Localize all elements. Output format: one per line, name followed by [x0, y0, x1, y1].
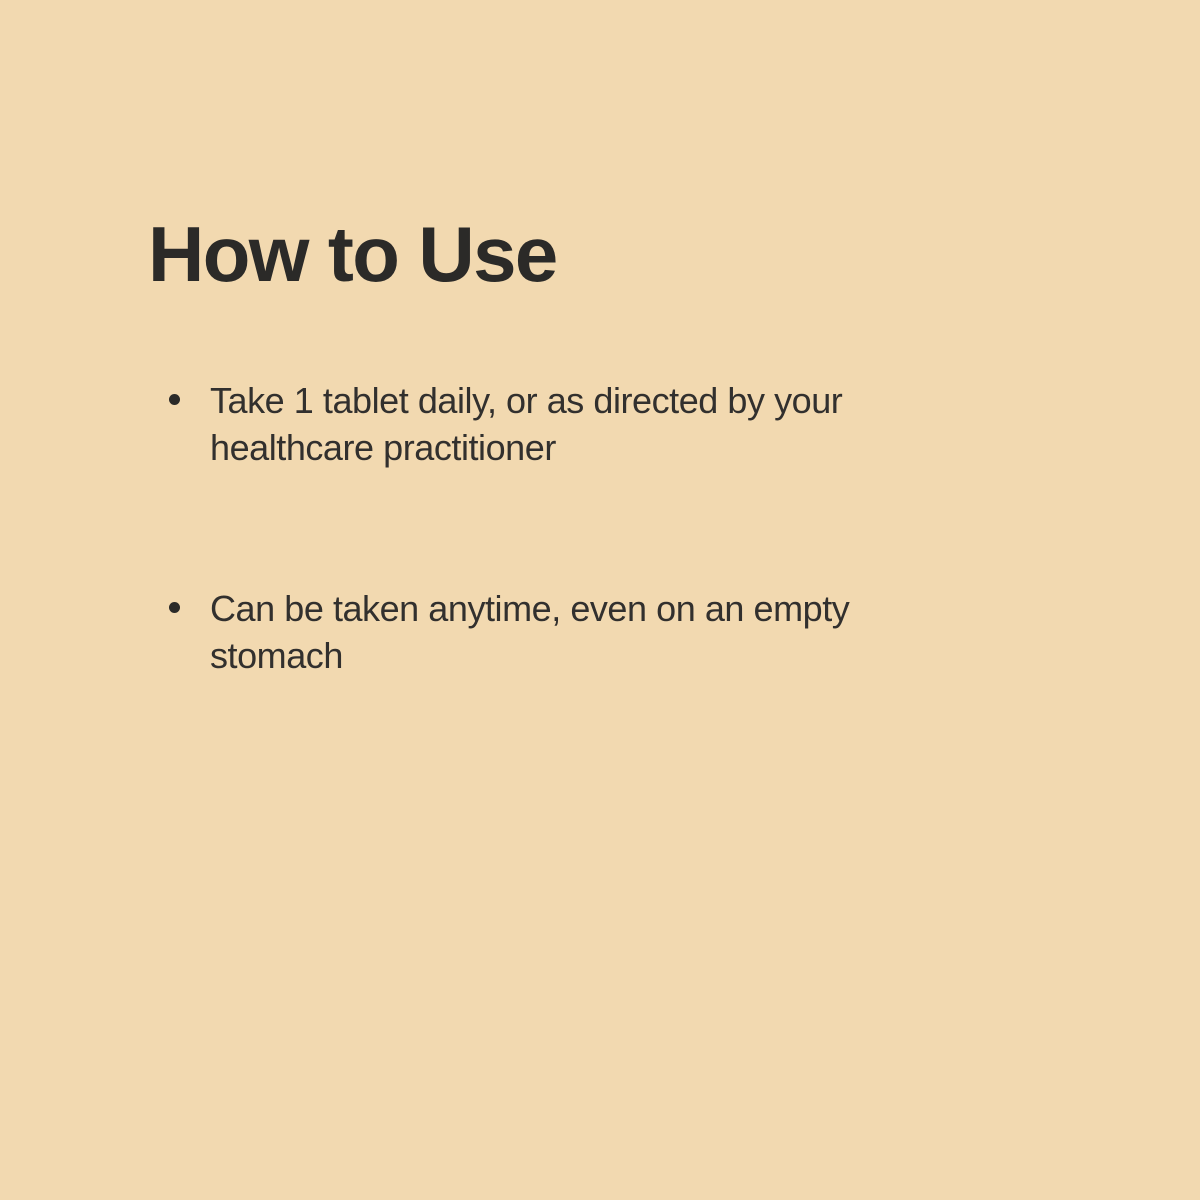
- list-item: Take 1 tablet daily, or as directed by y…: [148, 377, 908, 471]
- usage-instructions-list: Take 1 tablet daily, or as directed by y…: [148, 377, 908, 679]
- list-item-text: Take 1 tablet daily, or as directed by y…: [210, 377, 908, 471]
- how-to-use-card: How to Use Take 1 tablet daily, or as di…: [0, 0, 1200, 1200]
- page-title: How to Use: [148, 214, 908, 295]
- bullet-dot-icon: [169, 394, 180, 405]
- content-block: How to Use Take 1 tablet daily, or as di…: [148, 214, 908, 679]
- bullet-dot-icon: [169, 602, 180, 613]
- list-item: Can be taken anytime, even on an empty s…: [148, 585, 908, 679]
- list-item-text: Can be taken anytime, even on an empty s…: [210, 585, 908, 679]
